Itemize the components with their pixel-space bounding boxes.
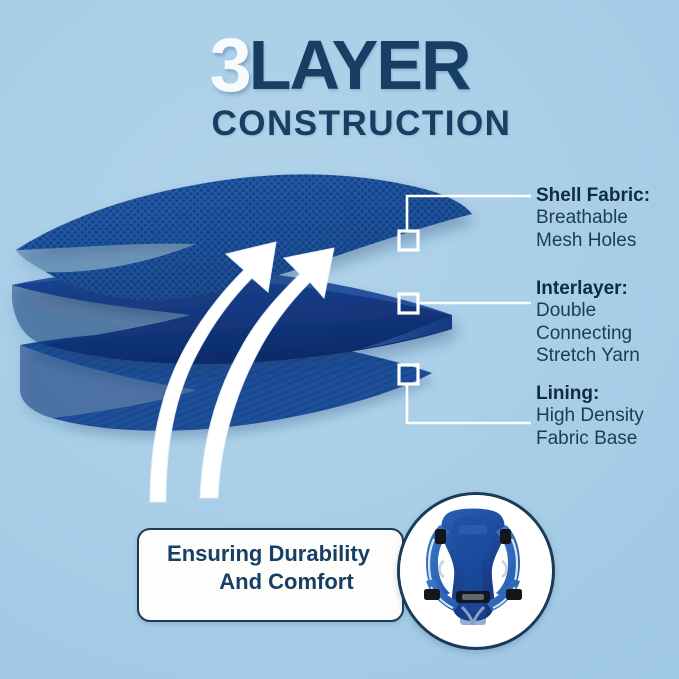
product-image-circle [397, 492, 555, 650]
tagline-line-2: And Comfort [137, 568, 400, 596]
title-number: 3 [209, 23, 248, 108]
callout-line: Mesh Holes [536, 230, 650, 252]
callout-line: Fabric Base [536, 428, 644, 450]
title-subtitle: CONSTRUCTION [44, 106, 679, 141]
infographic-canvas: 3LAYER CONSTRUCTION [0, 0, 679, 679]
callout-label-lining: Lining: High Density Fabric Base [536, 383, 644, 450]
callout-label-shell-fabric: Shell Fabric: Breathable Mesh Holes [536, 185, 650, 252]
page-title: 3LAYER CONSTRUCTION [0, 28, 679, 141]
tagline-text: Ensuring Durability And Comfort [137, 540, 400, 596]
title-main-word: LAYER [249, 26, 470, 104]
callout-line: Stretch Yarn [536, 345, 640, 367]
tagline-line-1: Ensuring Durability [137, 540, 400, 568]
fabric-layers-illustration [0, 150, 480, 510]
callout-heading: Interlayer: [536, 278, 640, 300]
title-row-primary: 3LAYER [0, 28, 679, 104]
callout-line: Breathable [536, 207, 650, 229]
callout-heading: Shell Fabric: [536, 185, 650, 207]
dog-harness-icon [400, 495, 546, 641]
callout-line: High Density [536, 405, 644, 427]
callout-label-interlayer: Interlayer: Double Connecting Stretch Ya… [536, 278, 640, 368]
callout-line: Connecting [536, 323, 640, 345]
callout-line: Double [536, 300, 640, 322]
callout-heading: Lining: [536, 383, 644, 405]
